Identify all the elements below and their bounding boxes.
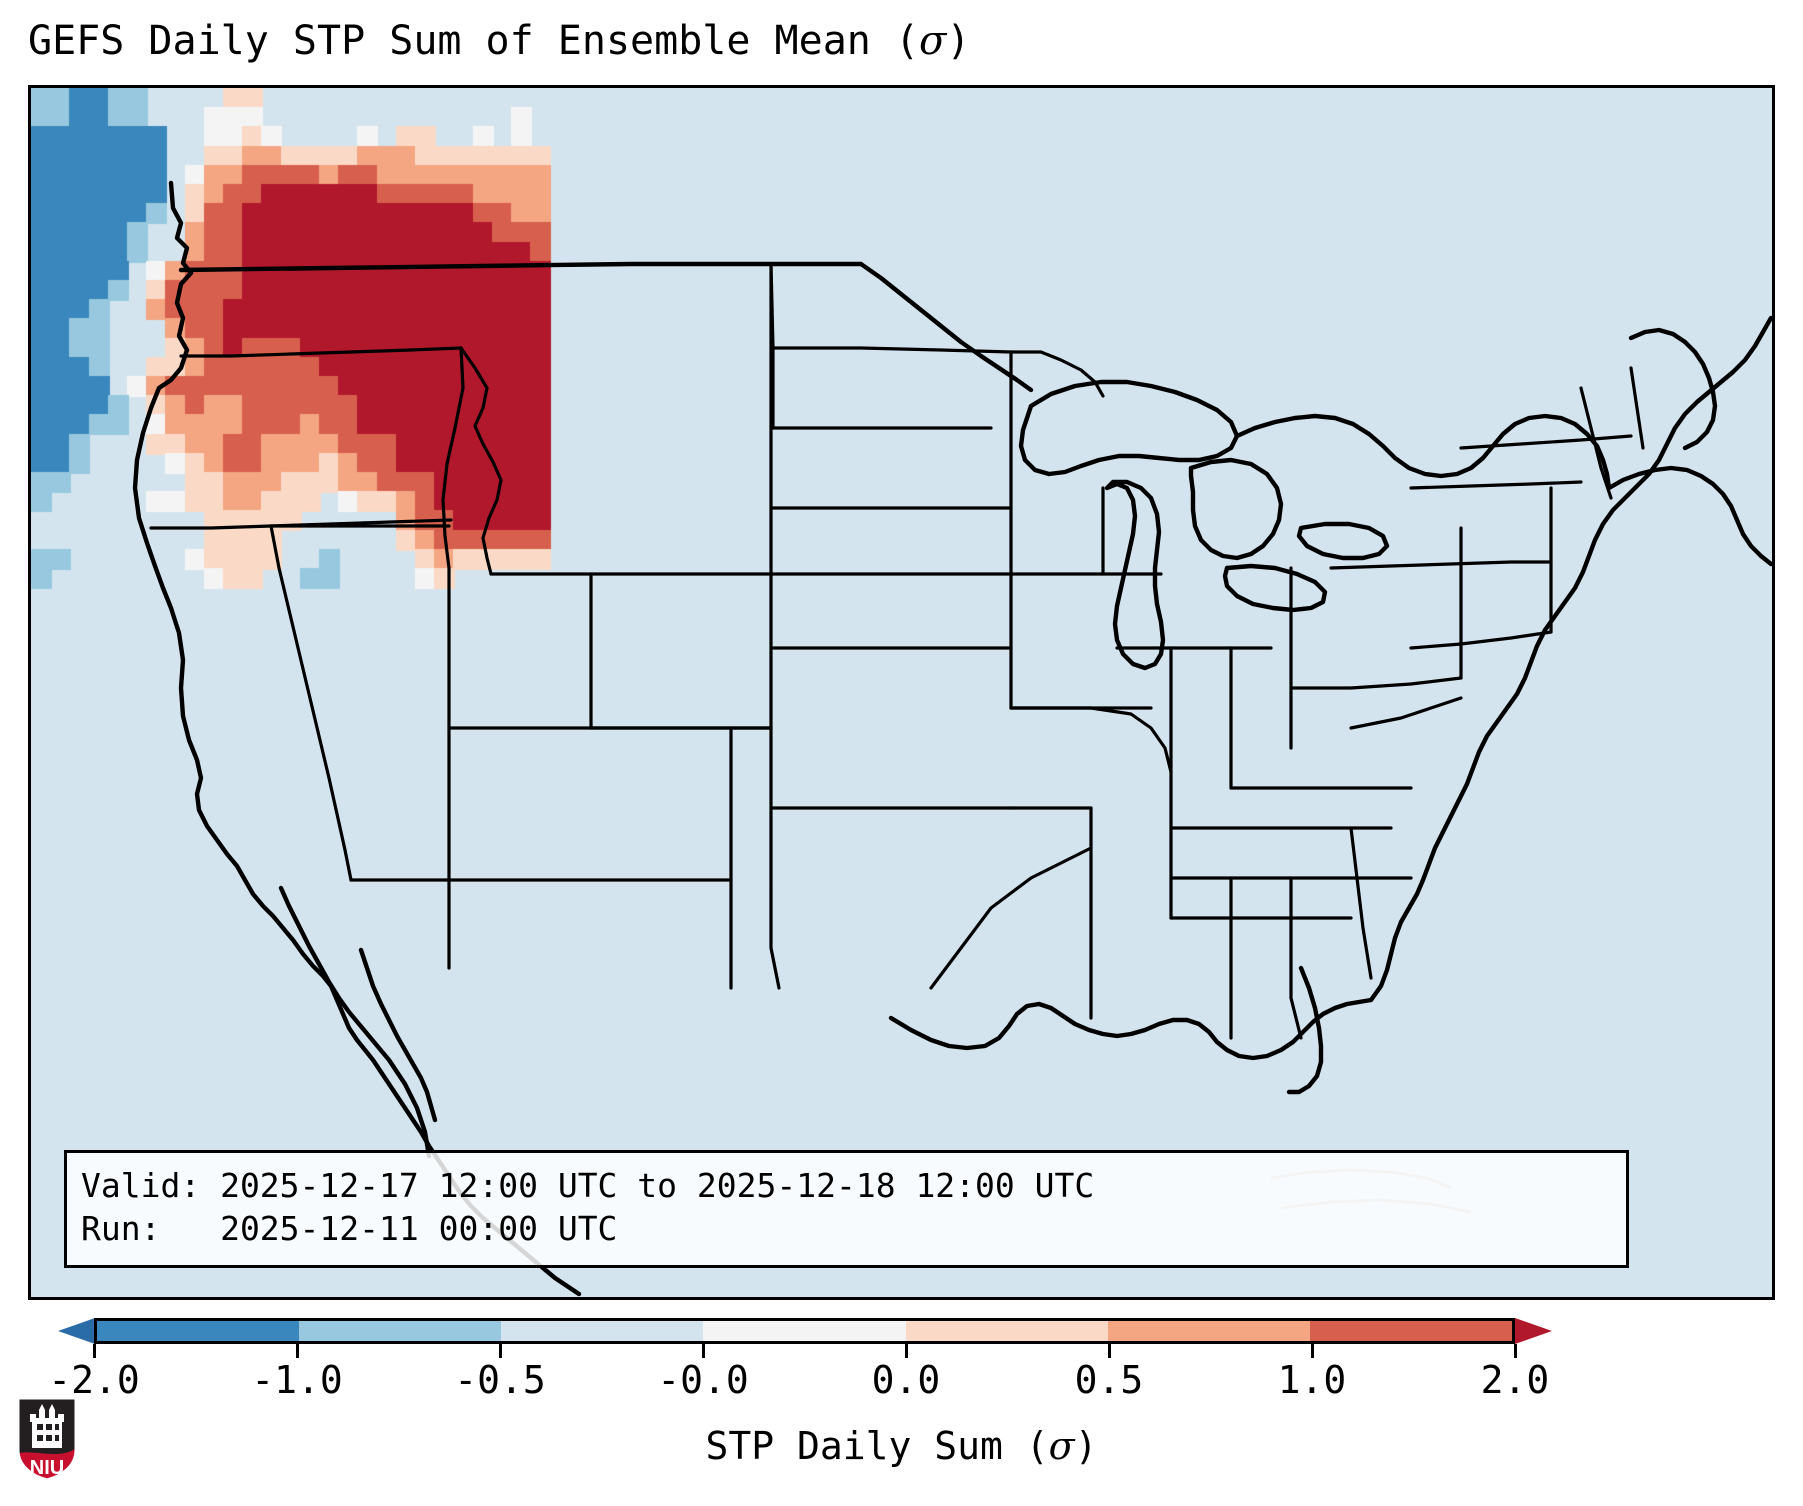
- colorbar-band-5: [1108, 1321, 1310, 1341]
- colorbar-extend-high-arrow: [1515, 1318, 1552, 1344]
- colorbar-band-1: [299, 1321, 501, 1341]
- forecast-info-box: Valid: 2025-12-17 12:00 UTC to 2025-12-1…: [64, 1150, 1629, 1268]
- colorbar-tick-label-5: 0.5: [1075, 1358, 1144, 1402]
- colorbar-extend-low-arrow: [58, 1318, 95, 1344]
- colorbar-tick-label-3: -0.0: [657, 1358, 749, 1402]
- colorbar-tick-1: [296, 1344, 299, 1358]
- colorbar-ticks: [94, 1344, 1515, 1358]
- colorbar-tick-2: [499, 1344, 502, 1358]
- title-sigma-symbol: σ: [919, 18, 946, 64]
- colorbar[interactable]: [28, 1318, 1775, 1344]
- colorbar-band-3: [703, 1321, 905, 1341]
- title-suffix: ): [946, 18, 970, 64]
- figure-root: GEFS Daily STP Sum of Ensemble Mean (σ): [0, 0, 1803, 1506]
- info-line-valid: Valid: 2025-12-17 12:00 UTC to 2025-12-1…: [81, 1166, 1094, 1205]
- colorbar-tick-label-7: 2.0: [1481, 1358, 1550, 1402]
- colorbar-label-suffix: ): [1075, 1424, 1098, 1468]
- colorbar-label-sigma-symbol: σ: [1049, 1424, 1075, 1468]
- title-prefix: GEFS Daily STP Sum of Ensemble Mean (: [28, 18, 919, 64]
- colorbar-tick-3: [702, 1344, 705, 1358]
- colorbar-tick-5: [1108, 1344, 1111, 1358]
- colorbar-tick-labels: -2.0-1.0-0.5-0.00.00.51.02.0: [94, 1358, 1515, 1410]
- colorbar-tick-label-1: -1.0: [251, 1358, 343, 1402]
- info-line-run: Run: 2025-12-11 00:00 UTC: [81, 1209, 617, 1248]
- colorbar-tick-6: [1311, 1344, 1314, 1358]
- map-panel[interactable]: Valid: 2025-12-17 12:00 UTC to 2025-12-1…: [28, 85, 1775, 1300]
- colorbar-axis-label: STP Daily Sum (σ): [0, 1424, 1803, 1468]
- page-title: GEFS Daily STP Sum of Ensemble Mean (σ): [28, 18, 970, 64]
- colorbar-tick-4: [905, 1344, 908, 1358]
- colorbar-tick-7: [1514, 1344, 1517, 1358]
- colorbar-tick-label-6: 1.0: [1278, 1358, 1347, 1402]
- colorbar-band-4: [906, 1321, 1108, 1341]
- colorbar-band-6: [1310, 1321, 1512, 1341]
- colorbar-band-2: [501, 1321, 703, 1341]
- colorbar-tick-label-4: 0.0: [872, 1358, 941, 1402]
- colorbar-band-0: [97, 1321, 299, 1341]
- colorbar-tick-label-2: -0.5: [454, 1358, 546, 1402]
- niu-logo: NIU: [16, 1396, 78, 1482]
- colorbar-bands: [94, 1318, 1515, 1344]
- colorbar-tick-0: [93, 1344, 96, 1358]
- colorbar-label-prefix: STP Daily Sum (: [705, 1424, 1048, 1468]
- stp-heatmap-canvas: [31, 88, 1772, 1297]
